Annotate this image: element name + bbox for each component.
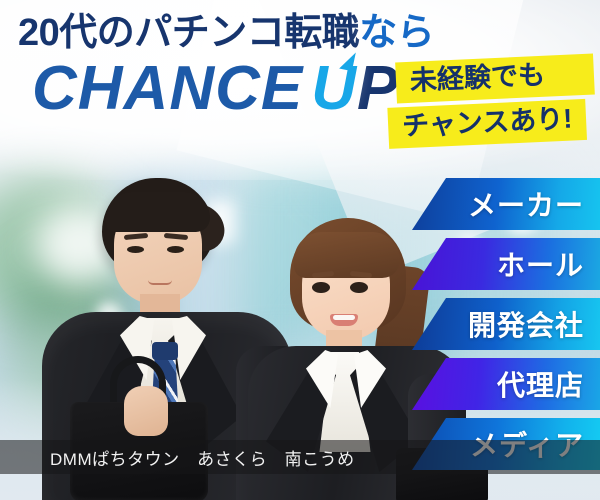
advertisement-banner[interactable]: 20代のパチンコ転職なら CHANCEUP 未経験でも チャンスあり! メーカー… [0,0,600,500]
category-button-agency[interactable]: 代理店 [412,358,600,410]
category-button-hall[interactable]: ホール [412,238,600,290]
category-label: 開発会社 [468,304,584,344]
caption-bar: DMMぱちタウン あさくら 南こうめ [0,440,600,474]
category-button-development-company[interactable]: 開発会社 [412,298,600,350]
headline-line-1: 20代のパチンコ転職なら [18,14,434,54]
caption-text: DMMぱちタウン あさくら 南こうめ [0,445,355,470]
category-label: メーカー [468,184,584,224]
headline-line-1-suffix: なら [359,12,434,54]
promo-badge-line-1: 未経験でも [395,54,595,104]
category-button-list: メーカー ホール 開発会社 代理店 メディア [0,178,600,478]
category-label: ホール [497,244,584,284]
headline-chance-text: CHANCE [32,54,303,123]
headline-line-2: CHANCEUP [32,58,434,120]
category-label: 代理店 [497,364,584,404]
headline: 20代のパチンコ転職なら CHANCEUP [18,14,434,120]
promo-badge: 未経験でも チャンスあり! [396,58,594,140]
promo-badge-inner: 未経験でも チャンスあり! [396,58,594,140]
headline-up-u: U [311,58,357,120]
headline-line-1-main: 20代のパチンコ転職 [18,12,359,54]
category-button-maker[interactable]: メーカー [412,178,600,230]
